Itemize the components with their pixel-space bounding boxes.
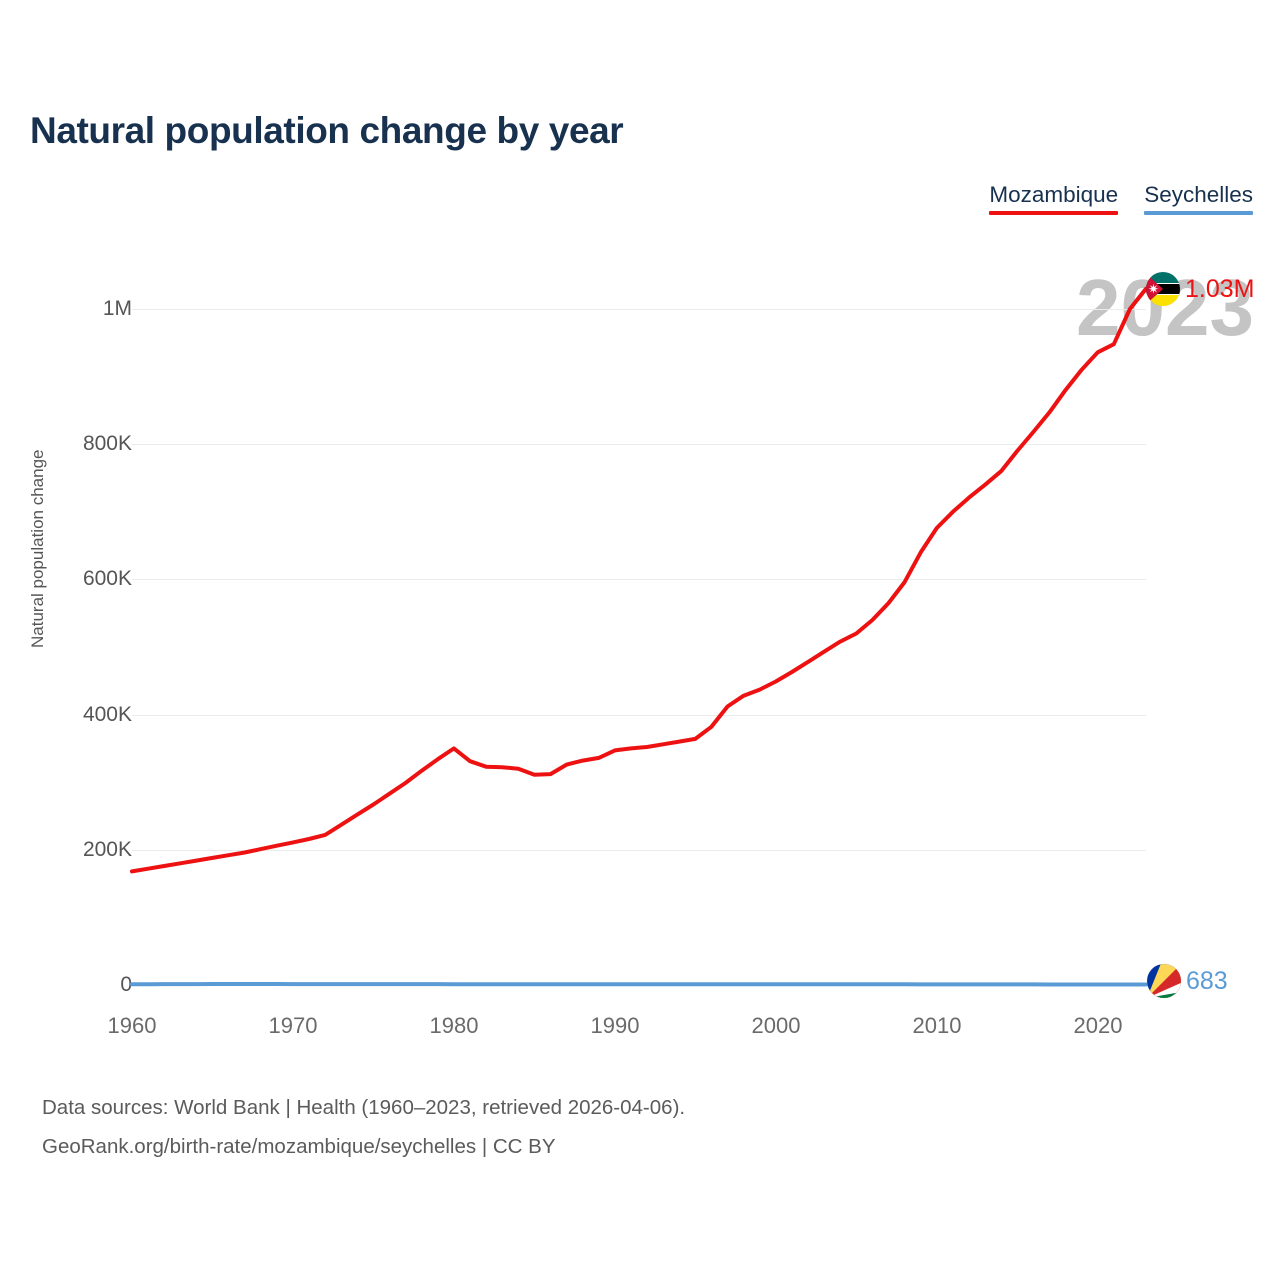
x-tick-label-1990: 1990 [591,1013,640,1039]
chart-card: Natural population change by year Mozamb… [0,0,1280,1280]
series-line-mozambique [132,289,1146,872]
x-tick-label-2010: 2010 [913,1013,962,1039]
series-line-seychelles [132,984,1146,985]
x-tick-label-1980: 1980 [430,1013,479,1039]
footer-data-sources: Data sources: World Bank | Health (1960–… [42,1088,685,1127]
end-marker-mozambique[interactable]: ✷ 1.03M [1146,272,1254,306]
x-tick-label-2000: 2000 [752,1013,801,1039]
end-value-mozambique: 1.03M [1185,275,1254,304]
footer: Data sources: World Bank | Health (1960–… [42,1088,685,1166]
x-tick-label-1970: 1970 [269,1013,318,1039]
mozambique-flag-icon: ✷ [1146,272,1180,306]
footer-attribution: GeoRank.org/birth-rate/mozambique/seyche… [42,1127,685,1166]
end-marker-seychelles[interactable]: 683 [1147,964,1228,998]
x-tick-label-2020: 2020 [1074,1013,1123,1039]
x-tick-label-1960: 1960 [108,1013,157,1039]
seychelles-flag-icon [1147,964,1181,998]
end-value-seychelles: 683 [1186,967,1228,996]
